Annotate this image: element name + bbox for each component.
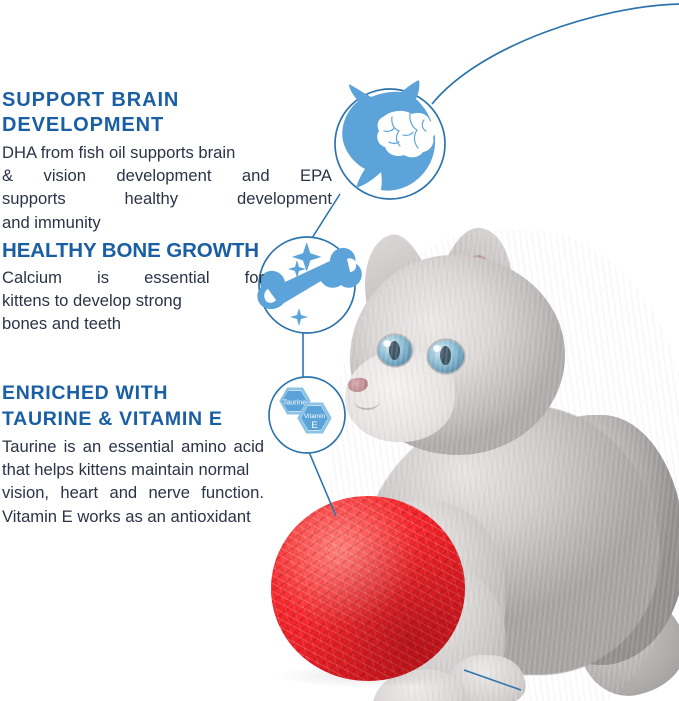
brain-badge [335,80,445,199]
brain-folds [384,113,426,148]
body-line: kittens to develop strong [2,289,264,312]
body-line: DHA from fish oil supports brain [2,141,332,164]
body-line: & vision development and EPA [2,164,332,187]
body-line: Taurine is an essential amino acid [2,435,264,458]
yarn-ball [271,496,465,681]
brain-shape [377,111,435,158]
body-line: and immunity [2,211,332,234]
body-line: Calcium is essential for [2,266,264,289]
body-line: bones and teeth [2,312,264,335]
infographic-canvas: Taurine Vitamin E SUPPORT BRAIN DEVELOPM… [0,0,679,701]
feature-taurine: ENRICHED WITH TAURINE & VITAMIN E Taurin… [2,380,264,528]
title-line: & VITAMIN E [98,408,222,430]
feature-taurine-body: Taurine is an essential amino acid that … [2,435,264,528]
body-line: vision, heart and nerve function. [2,481,264,504]
feature-bone-body: Calcium is essential for kittens to deve… [2,266,264,336]
brain-badge-ring [335,89,445,199]
body-line: supports healthy development [2,187,332,210]
feature-brain: SUPPORT BRAIN DEVELOPMENT DHA from fish … [2,88,332,234]
connector-top-right-curve [432,4,679,104]
feature-brain-title: SUPPORT BRAIN DEVELOPMENT [2,88,332,138]
feature-brain-body: DHA from fish oil supports brain & visio… [2,141,332,234]
feature-bone: HEALTHY BONE GROWTH Calcium is essential… [2,238,264,336]
body-line: Vitamin E works as an antioxidant [2,505,264,528]
feature-taurine-title: ENRICHED WITH TAURINE & VITAMIN E [2,380,264,432]
yarn-ball-shading [271,496,465,681]
yarn-ball-sphere [271,496,465,681]
body-line: that helps kittens maintain normal [2,458,264,481]
feature-bone-title: HEALTHY BONE GROWTH [2,238,264,263]
cat-head-silhouette [342,80,435,191]
